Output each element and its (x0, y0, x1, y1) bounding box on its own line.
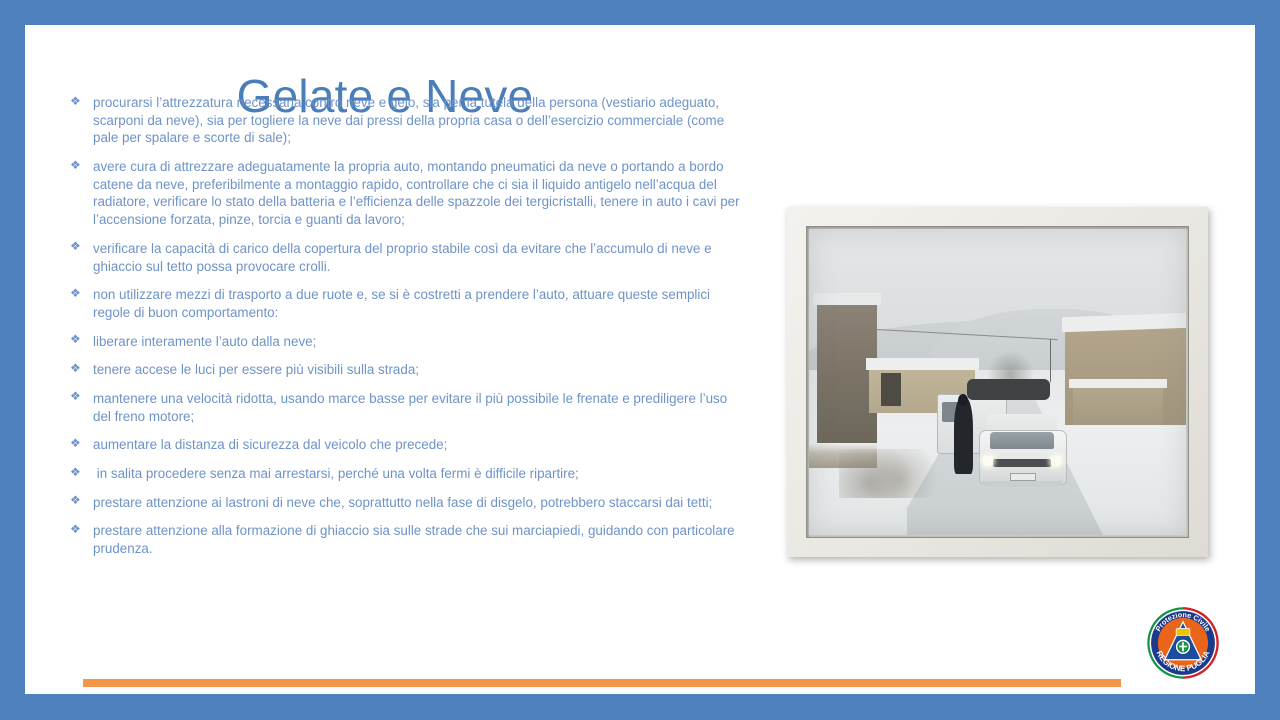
list-item-text: liberare interamente l’auto dalla neve; (93, 333, 742, 351)
photo-frame (787, 207, 1208, 557)
list-item: ❖ in salita procedere senza mai arrestar… (70, 465, 742, 483)
list-item-text: prestare attenzione ai lastroni di neve … (93, 494, 742, 512)
logo-cross-horizontal (1179, 646, 1187, 648)
list-item-text: procurarsi l’attrezzatura necessaria con… (93, 94, 742, 147)
list-item: ❖ prestare attenzione ai lastroni di nev… (70, 494, 742, 512)
list-item: ❖ avere cura di attrezzare adeguatamente… (70, 158, 742, 229)
bullet-marker-icon: ❖ (70, 389, 81, 405)
list-item: ❖ aumentare la distanza di sicurezza dal… (70, 436, 742, 454)
bullet-marker-icon: ❖ (70, 493, 81, 509)
list-item: ❖ mantenere una velocità ridotta, usando… (70, 390, 742, 425)
logo-svg: Protezione Civile REGIONE PUGLIA (1145, 605, 1221, 681)
bullet-marker-icon: ❖ (70, 522, 81, 538)
snow-street-photo (809, 229, 1186, 535)
list-item-text: avere cura di attrezzare adeguatamente l… (93, 158, 742, 229)
bullet-marker-icon: ❖ (70, 465, 81, 481)
bullet-list: ❖ procurarsi l’attrezzatura necessaria c… (70, 94, 742, 558)
list-item-text: prestare attenzione alla formazione di g… (93, 522, 742, 557)
list-item-text: aumentare la distanza di sicurezza dal v… (93, 436, 742, 454)
bullet-marker-icon: ❖ (70, 361, 81, 377)
accent-divider (83, 679, 1121, 687)
list-item: ❖ verificare la capacità di carico della… (70, 240, 742, 275)
photo-vignette (809, 229, 1186, 535)
list-item-text: in salita procedere senza mai arrestarsi… (93, 465, 742, 483)
list-item-text: non utilizzare mezzi di trasporto a due … (93, 286, 742, 321)
bullet-marker-icon: ❖ (70, 332, 81, 348)
bullet-marker-icon: ❖ (70, 94, 81, 110)
photo-mat (806, 226, 1189, 538)
list-item: ❖ tenere accese le luci per essere più v… (70, 361, 742, 379)
bullet-marker-icon: ❖ (70, 239, 81, 255)
bullet-marker-icon: ❖ (70, 436, 81, 452)
list-item: ❖ prestare attenzione alla formazione di… (70, 522, 742, 557)
slide-content-area: Gelate e Neve ❖ procurarsi l’attrezzatur… (25, 25, 1255, 694)
protezione-civile-logo: Protezione Civile REGIONE PUGLIA (1145, 605, 1221, 681)
list-item-text: tenere accese le luci per essere più vis… (93, 361, 742, 379)
list-item-text: verificare la capacità di carico della c… (93, 240, 742, 275)
bullet-marker-icon: ❖ (70, 286, 81, 302)
bullet-marker-icon: ❖ (70, 158, 81, 174)
list-item: ❖ non utilizzare mezzi di trasporto a du… (70, 286, 742, 321)
list-item: ❖ liberare interamente l’auto dalla neve… (70, 333, 742, 351)
list-item-text: mantenere una velocità ridotta, usando m… (93, 390, 742, 425)
slide: Gelate e Neve ❖ procurarsi l’attrezzatur… (0, 0, 1280, 720)
list-item: ❖ procurarsi l’attrezzatura necessaria c… (70, 94, 742, 147)
logo-crown (1176, 629, 1190, 636)
